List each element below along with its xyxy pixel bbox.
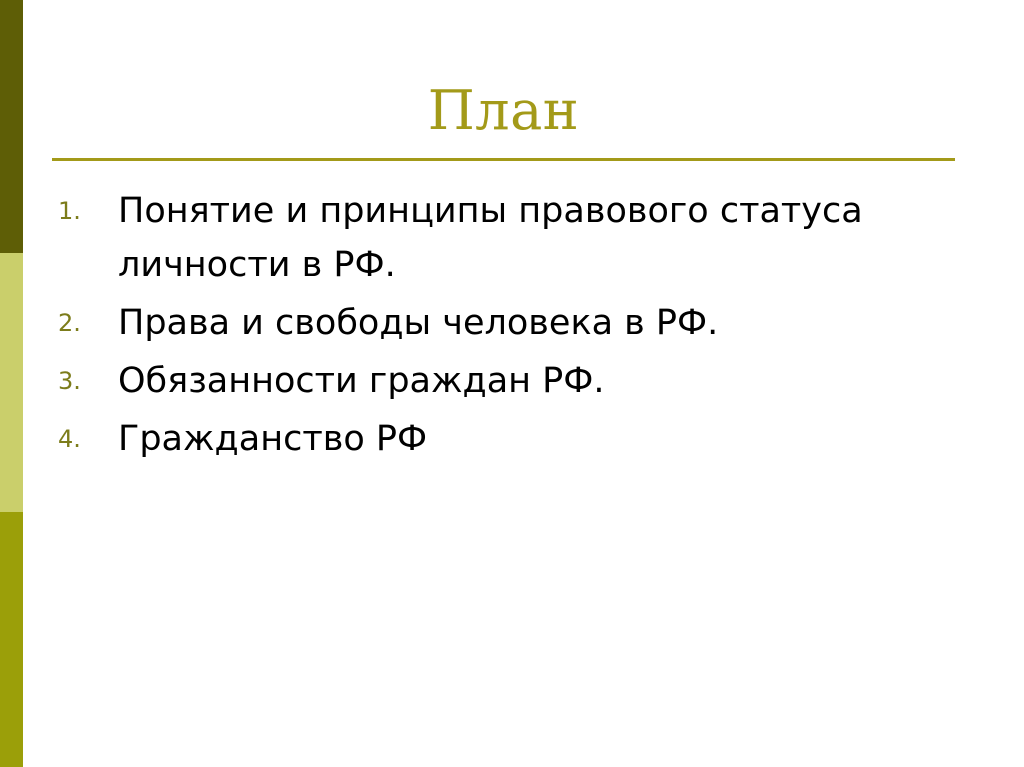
list-item: 2. Права и свободы человека в РФ.	[52, 296, 972, 350]
list-item-text: Понятие и принципы правового статуса лич…	[118, 184, 958, 292]
stripe-segment-bottom	[0, 512, 23, 767]
list-item-number: 2.	[52, 296, 118, 350]
list-item-number: 4.	[52, 412, 118, 466]
slide-canvas: План 1. Понятие и принципы правового ста…	[0, 0, 1024, 767]
plan-list: 1. Понятие и принципы правового статуса …	[52, 184, 972, 470]
list-item-text: Права и свободы человека в РФ.	[118, 296, 963, 350]
list-item-number: 1.	[52, 184, 118, 238]
title-divider	[52, 158, 955, 161]
list-item-text: Гражданство РФ	[118, 412, 963, 466]
decorative-side-stripe	[0, 0, 23, 767]
list-item-text: Обязанности граждан РФ.	[118, 354, 963, 408]
stripe-segment-top	[0, 0, 23, 253]
slide-title: План	[52, 78, 955, 144]
list-item: 4. Гражданство РФ	[52, 412, 972, 466]
list-item-number: 3.	[52, 354, 118, 408]
list-item: 3. Обязанности граждан РФ.	[52, 354, 972, 408]
list-item: 1. Понятие и принципы правового статуса …	[52, 184, 972, 292]
stripe-segment-middle	[0, 253, 23, 512]
